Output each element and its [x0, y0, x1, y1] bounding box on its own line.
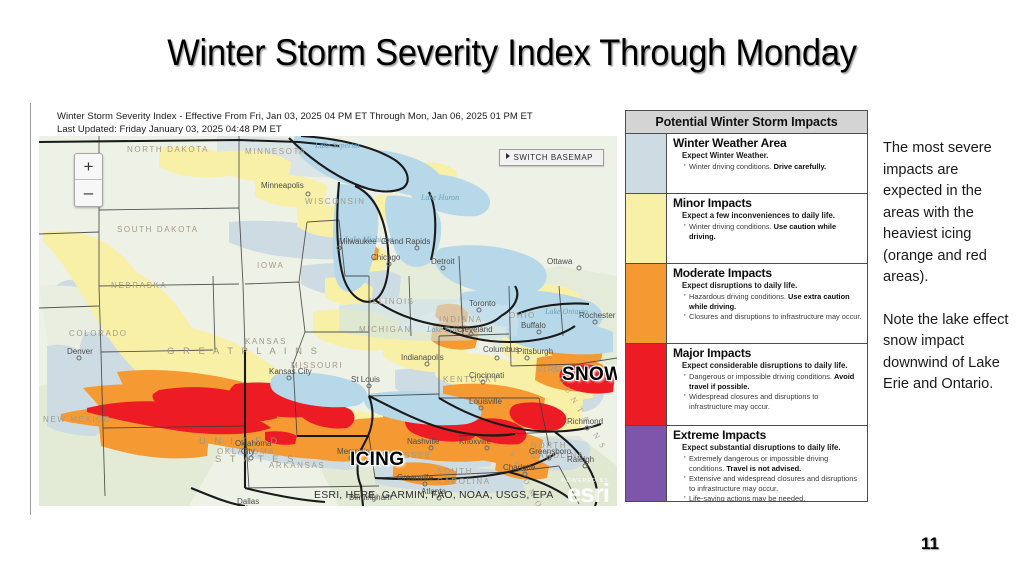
svg-text:KANSAS: KANSAS	[245, 337, 287, 346]
map-panel[interactable]: Winter Storm Severity Index - Effective …	[39, 105, 617, 506]
page-title: Winter Storm Severity Index Through Mond…	[36, 32, 988, 74]
map-header: Winter Storm Severity Index - Effective …	[57, 111, 533, 136]
svg-text:Detroit: Detroit	[431, 257, 455, 266]
legend-row: Major ImpactsExpect considerable disrupt…	[626, 344, 867, 426]
svg-text:City: City	[241, 447, 255, 456]
side-paragraph-1: The most severe impacts are expected in …	[883, 138, 1015, 289]
legend-bullet: Closures and disruptions to infrastructu…	[682, 312, 863, 322]
svg-text:St Louis: St Louis	[351, 375, 380, 384]
svg-text:MINNESOTA: MINNESOTA	[245, 147, 306, 156]
svg-text:Cleveland: Cleveland	[457, 325, 493, 334]
svg-text:SOUTH DAKOTA: SOUTH DAKOTA	[117, 225, 199, 234]
side-paragraph-2: Note the lake effect snow impact downwin…	[883, 310, 1015, 396]
svg-text:Lake Huron: Lake Huron	[420, 193, 459, 202]
svg-text:Lake Erie: Lake Erie	[426, 325, 459, 334]
legend-bullet: Extensive and widespread closures and di…	[682, 474, 863, 493]
svg-text:Rochester: Rochester	[579, 311, 616, 320]
map-graphic: G R E A T P L A I N S U N I T E D S T A …	[39, 136, 617, 506]
svg-text:NEW MEXICO: NEW MEXICO	[43, 415, 111, 424]
svg-text:Nashville: Nashville	[407, 437, 440, 446]
svg-text:Minneapolis: Minneapolis	[261, 181, 304, 190]
switch-basemap-label: SWITCH BASEMAP	[514, 153, 593, 162]
slide-left-rule	[30, 103, 31, 515]
annotation-icing: ICING	[350, 449, 404, 471]
svg-text:Chicago: Chicago	[371, 253, 401, 262]
legend-subheading: Expect Winter Weather.	[682, 151, 863, 161]
zoom-in-button[interactable]: +	[75, 154, 102, 180]
svg-text:Denver: Denver	[67, 347, 93, 356]
svg-text:SOUTH: SOUTH	[437, 467, 473, 476]
slide-canvas: Winter Storm Severity Index Through Mond…	[0, 0, 1024, 576]
svg-text:Pittsburgh: Pittsburgh	[517, 347, 553, 356]
svg-text:Dallas: Dallas	[237, 497, 259, 506]
legend-row: Extreme ImpactsExpect substantial disrup…	[626, 426, 867, 502]
legend-bullet: Widespread closures and disruptions to i…	[682, 392, 863, 411]
map-zoom-control[interactable]: + –	[74, 153, 103, 207]
legend-color-swatch	[626, 264, 667, 343]
legend-bullet: Winter driving conditions. Drive careful…	[682, 162, 863, 172]
legend-row: Minor ImpactsExpect a few inconveniences…	[626, 194, 867, 264]
legend-heading: Extreme Impacts	[673, 428, 863, 442]
legend-row: Moderate ImpactsExpect disruptions to da…	[626, 264, 867, 344]
map-viewport[interactable]: G R E A T P L A I N S U N I T E D S T A …	[39, 136, 617, 506]
svg-text:ILLINOIS: ILLINOIS	[369, 297, 415, 306]
legend-body: Winter Weather AreaExpect Winter Weather…	[667, 134, 867, 193]
page-number: 11	[900, 534, 960, 554]
legend-heading: Minor Impacts	[673, 196, 863, 210]
legend-heading: Winter Weather Area	[673, 136, 863, 150]
svg-text:Indianapolis: Indianapolis	[401, 353, 444, 362]
legend-bullet: Extremely dangerous or impossible drivin…	[682, 454, 863, 473]
svg-text:Knoxville: Knoxville	[459, 437, 492, 446]
svg-text:G R E A T P L A I N S: G R E A T P L A I N S	[167, 346, 320, 357]
svg-text:COLORADO: COLORADO	[69, 329, 128, 338]
legend-color-swatch	[626, 194, 667, 263]
legend-subheading: Expect a few inconveniences to daily lif…	[682, 211, 863, 221]
svg-text:Toronto: Toronto	[469, 299, 496, 308]
switch-basemap-button[interactable]: SWITCH BASEMAP	[499, 149, 604, 166]
zoom-out-button[interactable]: –	[75, 180, 102, 205]
legend-bullet: Hazardous driving conditions. Use extra …	[682, 292, 863, 311]
svg-text:Louisville: Louisville	[469, 397, 502, 406]
legend-body: Moderate ImpactsExpect disruptions to da…	[667, 264, 867, 343]
svg-text:Lake Superior: Lake Superior	[314, 141, 361, 150]
legend-color-swatch	[626, 344, 667, 425]
legend-panel: Potential Winter Storm Impacts Winter We…	[625, 110, 868, 502]
legend-bullet: Winter driving conditions. Use caution w…	[682, 222, 863, 241]
legend-subheading: Expect substantial disruptions to daily …	[682, 443, 863, 453]
legend-color-swatch	[626, 426, 667, 502]
legend-title: Potential Winter Storm Impacts	[626, 111, 867, 134]
svg-text:Raleigh: Raleigh	[567, 455, 594, 464]
legend-subheading: Expect disruptions to daily life.	[682, 281, 863, 291]
legend-heading: Moderate Impacts	[673, 266, 863, 280]
legend-rows: Winter Weather AreaExpect Winter Weather…	[626, 134, 867, 502]
legend-bullet: Life-saving actions may be needed.	[682, 494, 863, 502]
legend-bullet: Dangerous or impossible driving conditio…	[682, 372, 863, 391]
esri-logo: POWERED BY esri	[562, 478, 609, 504]
svg-text:IOWA: IOWA	[257, 261, 284, 270]
svg-text:OHIO: OHIO	[509, 311, 536, 320]
legend-body: Minor ImpactsExpect a few inconveniences…	[667, 194, 867, 263]
legend-heading: Major Impacts	[673, 346, 863, 360]
svg-text:INDIANA: INDIANA	[439, 315, 483, 324]
legend-body: Major ImpactsExpect considerable disrupt…	[667, 344, 867, 425]
esri-wordmark: esri	[562, 482, 609, 504]
map-header-line-2: Last Updated: Friday January 03, 2025 04…	[57, 124, 533, 137]
svg-text:Buffalo: Buffalo	[521, 321, 546, 330]
svg-text:Ottawa: Ottawa	[547, 257, 573, 266]
svg-text:NORTH DAKOTA: NORTH DAKOTA	[127, 145, 209, 154]
svg-text:Greensboro: Greensboro	[529, 447, 572, 456]
map-header-line-1: Winter Storm Severity Index - Effective …	[57, 111, 533, 124]
legend-subheading: Expect considerable disruptions to daily…	[682, 361, 863, 371]
svg-text:MICHIGAN: MICHIGAN	[359, 325, 412, 334]
svg-text:NEBRASKA: NEBRASKA	[111, 281, 167, 290]
svg-text:ARKANSAS: ARKANSAS	[269, 461, 325, 470]
svg-text:Milwaukee: Milwaukee	[339, 237, 377, 246]
svg-text:Kansas City: Kansas City	[269, 367, 312, 376]
side-commentary: The most severe impacts are expected in …	[883, 138, 1015, 396]
legend-body: Extreme ImpactsExpect substantial disrup…	[667, 426, 867, 502]
svg-text:Grand Rapids: Grand Rapids	[381, 237, 430, 246]
svg-text:WISCONSIN: WISCONSIN	[305, 197, 366, 206]
svg-text:CAROLINA: CAROLINA	[437, 477, 491, 486]
legend-color-swatch	[626, 134, 667, 193]
svg-text:Cincinnati: Cincinnati	[469, 371, 504, 380]
map-attribution: ESRI, HERE, GARMIN, FAO, NOAA, USGS, EPA	[314, 489, 553, 501]
svg-text:Columbus: Columbus	[483, 345, 519, 354]
triangle-right-icon	[506, 153, 510, 159]
svg-text:Greenville: Greenville	[397, 473, 434, 482]
legend-row: Winter Weather AreaExpect Winter Weather…	[626, 134, 867, 194]
annotation-snow: SNOW	[562, 364, 617, 386]
